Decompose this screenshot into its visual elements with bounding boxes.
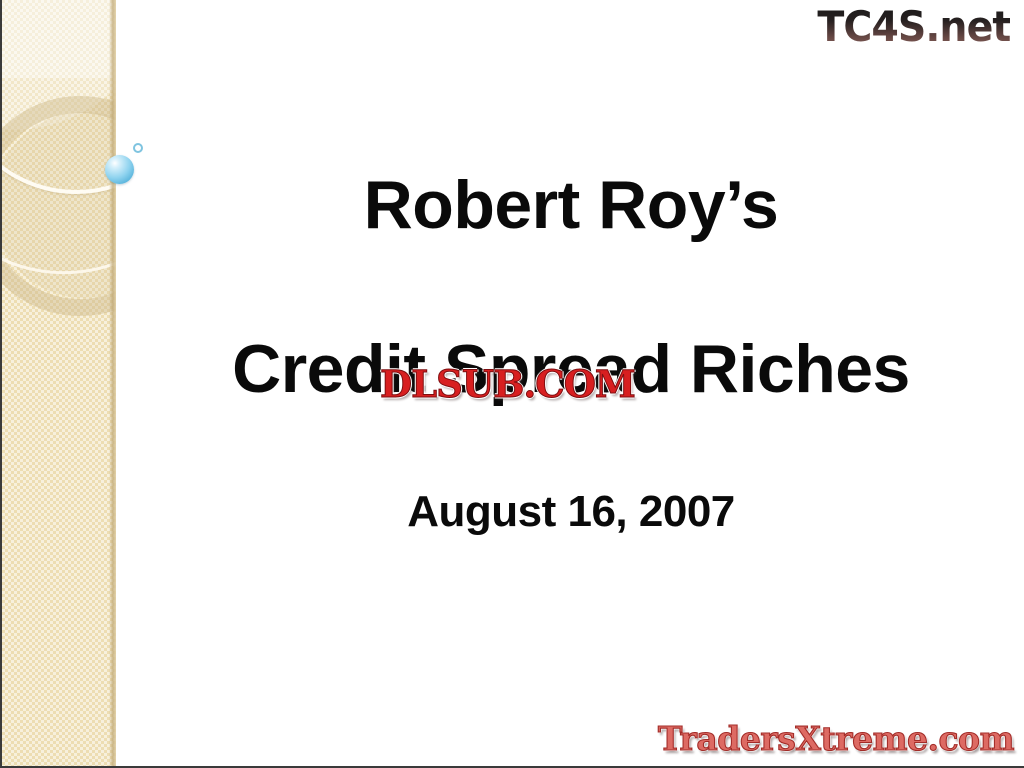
presentation-date: August 16, 2007 [116,486,1024,538]
decorative-arc [2,21,116,288]
decorative-side-band [2,0,116,768]
tradersxtreme-logo: TradersXtreme.com [658,719,1014,758]
band-edge-trim [109,0,116,768]
presentation-slide: Robert Roy’s Credit Spread Riches August… [0,0,1024,768]
tc4s-logo: TC4S.net [817,2,1010,51]
center-watermark: DLSUB.COM [380,362,635,406]
page-title-line-1: Robert Roy’s [116,166,1024,244]
